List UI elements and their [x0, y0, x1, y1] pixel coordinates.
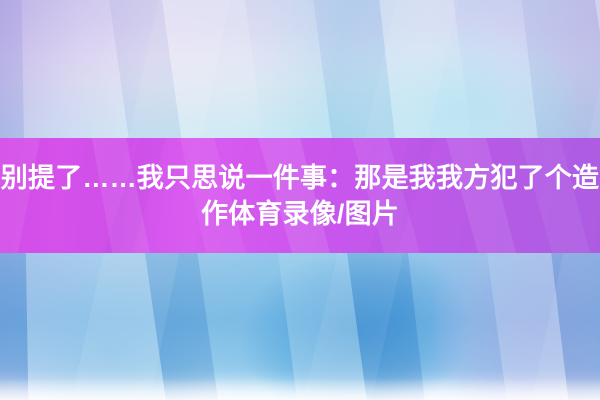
- bottom-fade-strip: [0, 378, 600, 400]
- band-text-block: 别提了……我只思说一件事：那是我我方犯了个造 作体育录像/图片: [0, 138, 600, 253]
- banner-image: 别提了……我只思说一件事：那是我我方犯了个造 作体育录像/图片: [0, 0, 600, 400]
- band-text-line-1: 别提了……我只思说一件事：那是我我方犯了个造: [1, 161, 599, 195]
- text-band: 别提了……我只思说一件事：那是我我方犯了个造 作体育录像/图片: [0, 138, 600, 253]
- band-text-line-2: 作体育录像/图片: [201, 197, 399, 231]
